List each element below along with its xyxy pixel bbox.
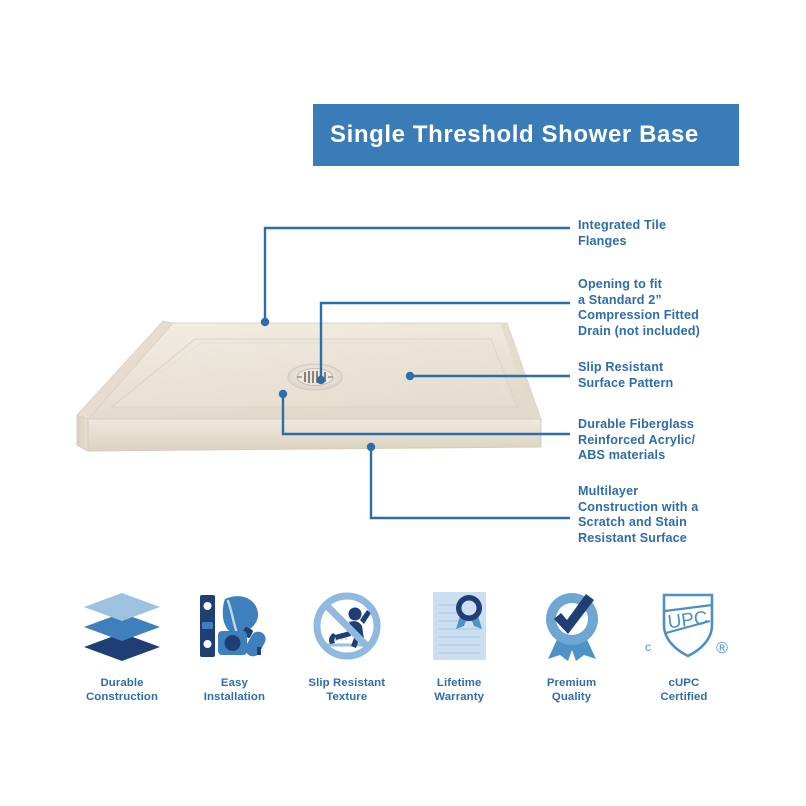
- feature-cupc-certified: UPC c ® cUPC Certified: [628, 588, 740, 704]
- trowel-level-tape-icon: [192, 588, 276, 664]
- feature-label: Easy Installation: [204, 676, 265, 704]
- certificate-document-icon: [417, 588, 501, 664]
- feature-durable-construction: Durable Construction: [66, 588, 178, 704]
- feature-label: cUPC Certified: [660, 676, 707, 704]
- cupc-shield-icon: UPC c ®: [638, 588, 730, 664]
- feature-slip-resistant-texture: Slip Resistant Texture: [291, 588, 403, 704]
- shield-upc-text: UPC: [666, 608, 708, 634]
- no-slip-warning-icon: [305, 588, 389, 664]
- stacked-layers-icon: [80, 588, 164, 664]
- feature-label: Premium Quality: [547, 676, 596, 704]
- base-front-threshold: [88, 419, 541, 451]
- page-title: Single Threshold Shower Base: [330, 121, 699, 149]
- callout-slip-resistant-surface: Slip Resistant Surface Pattern: [578, 360, 673, 391]
- callout-integrated-tile-flanges: Integrated Tile Flanges: [578, 218, 666, 249]
- feature-label: Durable Construction: [86, 676, 158, 704]
- feature-premium-quality: Premium Quality: [516, 588, 628, 704]
- base-left-side: [77, 415, 88, 451]
- infographic-page: Single Threshold Shower Base: [0, 0, 806, 806]
- cupc-prefix-c: c: [645, 640, 651, 654]
- callout-drain-opening: Opening to fit a Standard 2” Compression…: [578, 277, 700, 339]
- award-rosette-check-icon: [530, 588, 614, 664]
- product-illustration: [55, 295, 545, 480]
- title-banner: Single Threshold Shower Base: [313, 104, 739, 166]
- feature-label: Lifetime Warranty: [434, 676, 484, 704]
- feature-easy-installation: Easy Installation: [178, 588, 290, 704]
- callout-durable-materials: Durable Fiberglass Reinforced Acrylic/ A…: [578, 417, 695, 464]
- registered-trademark-mark: ®: [716, 640, 728, 657]
- feature-label: Slip Resistant Texture: [308, 676, 385, 704]
- feature-badge-row: Durable Construction: [66, 588, 740, 718]
- shower-base-drawing: [55, 295, 545, 480]
- drain-cover: [297, 369, 333, 386]
- callout-multilayer-construction: Multilayer Construction with a Scratch a…: [578, 484, 698, 546]
- feature-lifetime-warranty: Lifetime Warranty: [403, 588, 515, 704]
